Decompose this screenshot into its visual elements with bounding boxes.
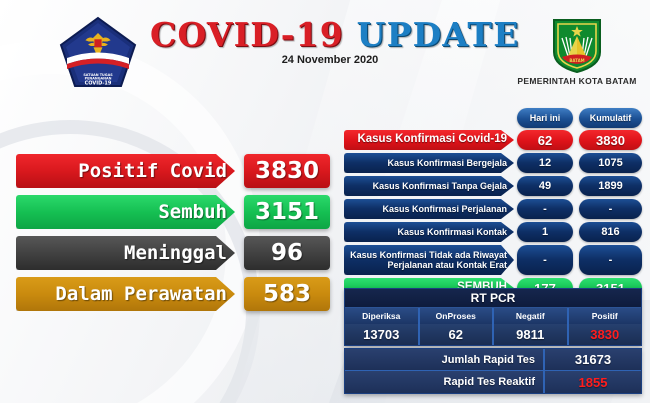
table-row-tanpa-riwayat: Kasus Konfirmasi Tidak ada Riwayat Perja… <box>344 245 642 275</box>
summary-bar-label: Sembuh <box>16 195 235 229</box>
summary-bar-label: Dalam Perawatan <box>16 277 235 311</box>
row-value-today: 49 <box>517 176 573 196</box>
header: SATUAN TUGAS PENANGANAN COVID-19 COVID-1… <box>0 0 650 96</box>
covid-update-infographic: SATUAN TUGAS PENANGANAN COVID-19 COVID-1… <box>0 0 650 403</box>
table-row-konfirmasi-covid19: Kasus Konfirmasi Covid-19 62 3830 <box>344 130 642 150</box>
row-value-today: 62 <box>517 130 573 150</box>
title-covid19: COVID-19 <box>150 15 344 54</box>
report-date: 24 November 2020 <box>150 54 510 66</box>
rt-pcr-column-value: 13703 <box>345 324 418 345</box>
batam-government-caption: PEMERINTAH KOTA BATAM <box>510 76 644 86</box>
row-label: Kasus Konfirmasi Tidak ada Riwayat Perja… <box>344 245 514 275</box>
summary-bar-label: Meninggal <box>16 236 235 270</box>
row-value-today: 1 <box>517 222 573 242</box>
table-row-kontak: Kasus Konfirmasi Kontak 1 816 <box>344 222 642 242</box>
row-label: Kasus Konfirmasi Kontak <box>344 222 514 242</box>
row-label: Kasus Konfirmasi Bergejala <box>344 153 514 173</box>
summary-bar-value: 3151 <box>244 195 330 229</box>
table-row-tanpa-gejala: Kasus Konfirmasi Tanpa Gejala 49 1899 <box>344 176 642 196</box>
summary-bar-value: 3830 <box>244 154 330 188</box>
table-row-bergejala: Kasus Konfirmasi Bergejala 12 1075 <box>344 153 642 173</box>
row-label: Kasus Konfirmasi Perjalanan <box>344 199 514 219</box>
row-value-cumulative: 1899 <box>579 176 642 196</box>
summary-bars: Positif Covid 3830 Sembuh 3151 Meninggal… <box>16 154 330 318</box>
rapid-test-value: 1855 <box>545 371 641 393</box>
column-header-hari-ini: Hari ini <box>517 108 573 128</box>
row-label: Kasus Konfirmasi Tanpa Gejala <box>344 176 514 196</box>
rt-pcr-grid: Diperiksa 13703 OnProses 62 Negatif 9811… <box>345 308 641 345</box>
svg-text:COVID-19: COVID-19 <box>85 80 112 86</box>
rt-pcr-column-header: Positif <box>569 308 642 324</box>
rapid-test-row-jumlah: Jumlah Rapid Tes 31673 <box>345 349 641 371</box>
rt-pcr-column-header: OnProses <box>420 308 493 324</box>
rt-pcr-column-value: 62 <box>420 324 493 345</box>
rapid-test-row-reaktif: Rapid Tes Reaktif 1855 <box>345 371 641 393</box>
summary-bar-positif: Positif Covid 3830 <box>16 154 330 188</box>
summary-bar-label: Positif Covid <box>16 154 235 188</box>
row-label: Kasus Konfirmasi Covid-19 <box>344 130 514 150</box>
rt-pcr-column-value: 9811 <box>494 324 567 345</box>
summary-bar-value: 583 <box>244 277 330 311</box>
svg-text:BATAM: BATAM <box>569 58 584 63</box>
rt-pcr-column-header: Negatif <box>494 308 567 324</box>
rt-pcr-column-diperiksa: Diperiksa 13703 <box>345 308 420 345</box>
row-value-cumulative: - <box>579 199 642 219</box>
row-value-cumulative: 1075 <box>579 153 642 173</box>
summary-bar-sembuh: Sembuh 3151 <box>16 195 330 229</box>
rt-pcr-title: RT PCR <box>345 289 641 308</box>
case-breakdown-table: Hari ini Kumulatif Kasus Konfirmasi Covi… <box>344 108 642 301</box>
rapid-test-label: Rapid Tes Reaktif <box>345 371 545 393</box>
case-table-header: Hari ini Kumulatif <box>344 108 642 130</box>
row-value-today: - <box>517 199 573 219</box>
row-value-today: 12 <box>517 153 573 173</box>
row-value-cumulative: 816 <box>579 222 642 242</box>
column-header-kumulatif: Kumulatif <box>579 108 642 128</box>
rt-pcr-column-negatif: Negatif 9811 <box>494 308 569 345</box>
row-value-cumulative: - <box>579 245 642 275</box>
batam-city-crest-icon: BATAM <box>548 16 606 74</box>
rt-pcr-column-positif: Positif 3830 <box>569 308 642 345</box>
rapid-test-value: 31673 <box>545 349 641 370</box>
rt-pcr-column-value: 3830 <box>569 324 642 345</box>
rt-pcr-table: RT PCR Diperiksa 13703 OnProses 62 Negat… <box>344 288 642 346</box>
table-row-perjalanan: Kasus Konfirmasi Perjalanan - - <box>344 199 642 219</box>
summary-bar-dalam-perawatan: Dalam Perawatan 583 <box>16 277 330 311</box>
rapid-test-label: Jumlah Rapid Tes <box>345 349 545 370</box>
page-title: COVID-19 UPDATE <box>150 18 510 51</box>
rt-pcr-column-header: Diperiksa <box>345 308 418 324</box>
summary-bar-value: 96 <box>244 236 330 270</box>
rt-pcr-column-onproses: OnProses 62 <box>420 308 495 345</box>
title-update: UPDATE <box>357 15 520 54</box>
summary-bar-meninggal: Meninggal 96 <box>16 236 330 270</box>
row-value-cumulative: 3830 <box>579 130 642 150</box>
satgas-covid19-emblem-icon: SATUAN TUGAS PENANGANAN COVID-19 <box>58 16 138 88</box>
rapid-test-table: Jumlah Rapid Tes 31673 Rapid Tes Reaktif… <box>344 348 642 394</box>
row-value-today: - <box>517 245 573 275</box>
